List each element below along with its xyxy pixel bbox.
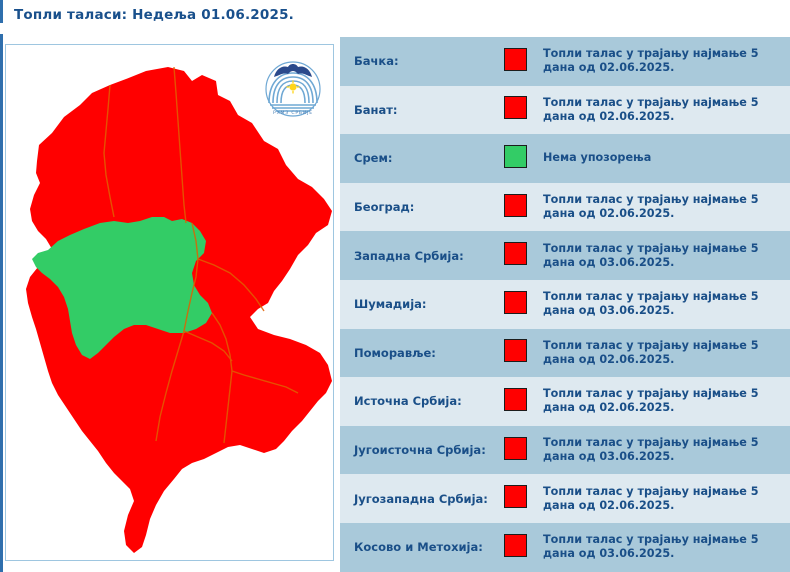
status-swatch-green <box>504 145 527 168</box>
rhmz-serbia-logo-icon: РХМЗ СРБИЈЕ <box>262 59 324 121</box>
alert-description: Топли талас у трајању најмање 5 дана од … <box>542 37 790 86</box>
table-row[interactable]: Бачка: Топли талас у трајању најмање 5 д… <box>340 37 790 86</box>
alert-description: Топли талас у трајању најмање 5 дана од … <box>542 280 790 329</box>
status-swatch-red <box>504 437 527 460</box>
alert-description: Топли талас у трајању најмање 5 дана од … <box>542 474 790 523</box>
region-label: Источна Србија: <box>340 377 498 426</box>
region-alert-table: Бачка: Топли талас у трајању најмање 5 д… <box>340 37 790 572</box>
status-swatch-red <box>504 96 527 119</box>
region-label: Косово и Метохија: <box>340 523 498 572</box>
region-label: Београд: <box>340 183 498 232</box>
alert-description: Топли талас у трајању најмање 5 дана од … <box>542 329 790 378</box>
rhmz-logo: РХМЗ СРБИЈЕ <box>262 59 324 121</box>
alert-description: Топли талас у трајању најмање 5 дана од … <box>542 377 790 426</box>
table-row[interactable]: Западна Србија: Топли талас у трајању на… <box>340 231 790 280</box>
alert-description: Топли талас у трајању најмање 5 дана од … <box>542 183 790 232</box>
status-swatch-red <box>504 339 527 362</box>
status-swatch-cell <box>498 183 542 232</box>
status-swatch-red <box>504 194 527 217</box>
alert-description: Топли талас у трајању најмање 5 дана од … <box>542 523 790 572</box>
status-swatch-red <box>504 48 527 71</box>
table-row[interactable]: Источна Србија: Топли талас у трајању на… <box>340 377 790 426</box>
region-label: Југоисточна Србија: <box>340 426 498 475</box>
status-swatch-cell <box>498 523 542 572</box>
status-swatch-cell <box>498 329 542 378</box>
serbia-region-map[interactable] <box>6 45 333 560</box>
page-title: Топли таласи: Недеља 01.06.2025. <box>0 7 294 23</box>
status-swatch-red <box>504 291 527 314</box>
page-title-bar: Топли таласи: Недеља 01.06.2025. <box>0 0 340 30</box>
region-label: Западна Србија: <box>340 231 498 280</box>
status-swatch-cell <box>498 280 542 329</box>
region-alert-rows: Бачка: Топли талас у трајању најмање 5 д… <box>340 37 790 572</box>
heat-wave-warning-page: Топли таласи: Недеља 01.06.2025. <box>0 0 790 572</box>
status-swatch-cell <box>498 86 542 135</box>
alert-description: Топли талас у трајању најмање 5 дана од … <box>542 231 790 280</box>
table-row[interactable]: Поморавље: Топли талас у трајању најмање… <box>340 329 790 378</box>
status-swatch-cell <box>498 134 542 183</box>
status-swatch-cell <box>498 37 542 86</box>
region-label: Шумадија: <box>340 280 498 329</box>
status-swatch-red <box>504 534 527 557</box>
map-panel: РХМЗ СРБИЈЕ <box>5 44 334 561</box>
status-swatch-red <box>504 388 527 411</box>
region-label: Банат: <box>340 86 498 135</box>
status-swatch-red <box>504 242 527 265</box>
logo-caption: РХМЗ СРБИЈЕ <box>273 110 313 116</box>
region-label: Бачка: <box>340 37 498 86</box>
table-row[interactable]: Југозападна Србија: Топли талас у трајањ… <box>340 474 790 523</box>
region-label: Југозападна Србија: <box>340 474 498 523</box>
alert-description: Топли талас у трајању најмање 5 дана од … <box>542 426 790 475</box>
alert-description: Нема упозорења <box>542 134 790 183</box>
status-swatch-cell <box>498 474 542 523</box>
left-accent-rail <box>0 0 3 572</box>
table-row[interactable]: Шумадија: Топли талас у трајању најмање … <box>340 280 790 329</box>
table-row[interactable]: Београд: Топли талас у трајању најмање 5… <box>340 183 790 232</box>
status-swatch-cell <box>498 231 542 280</box>
status-swatch-red <box>504 485 527 508</box>
status-swatch-cell <box>498 377 542 426</box>
region-label: Поморавље: <box>340 329 498 378</box>
table-row[interactable]: Косово и Метохија: Топли талас у трајању… <box>340 523 790 572</box>
region-label: Срем: <box>340 134 498 183</box>
table-row[interactable]: Југоисточна Србија: Топли талас у трајањ… <box>340 426 790 475</box>
alert-description: Топли талас у трајању најмање 5 дана од … <box>542 86 790 135</box>
status-swatch-cell <box>498 426 542 475</box>
table-row[interactable]: Срем: Нема упозорења <box>340 134 790 183</box>
table-row[interactable]: Банат: Топли талас у трајању најмање 5 д… <box>340 86 790 135</box>
